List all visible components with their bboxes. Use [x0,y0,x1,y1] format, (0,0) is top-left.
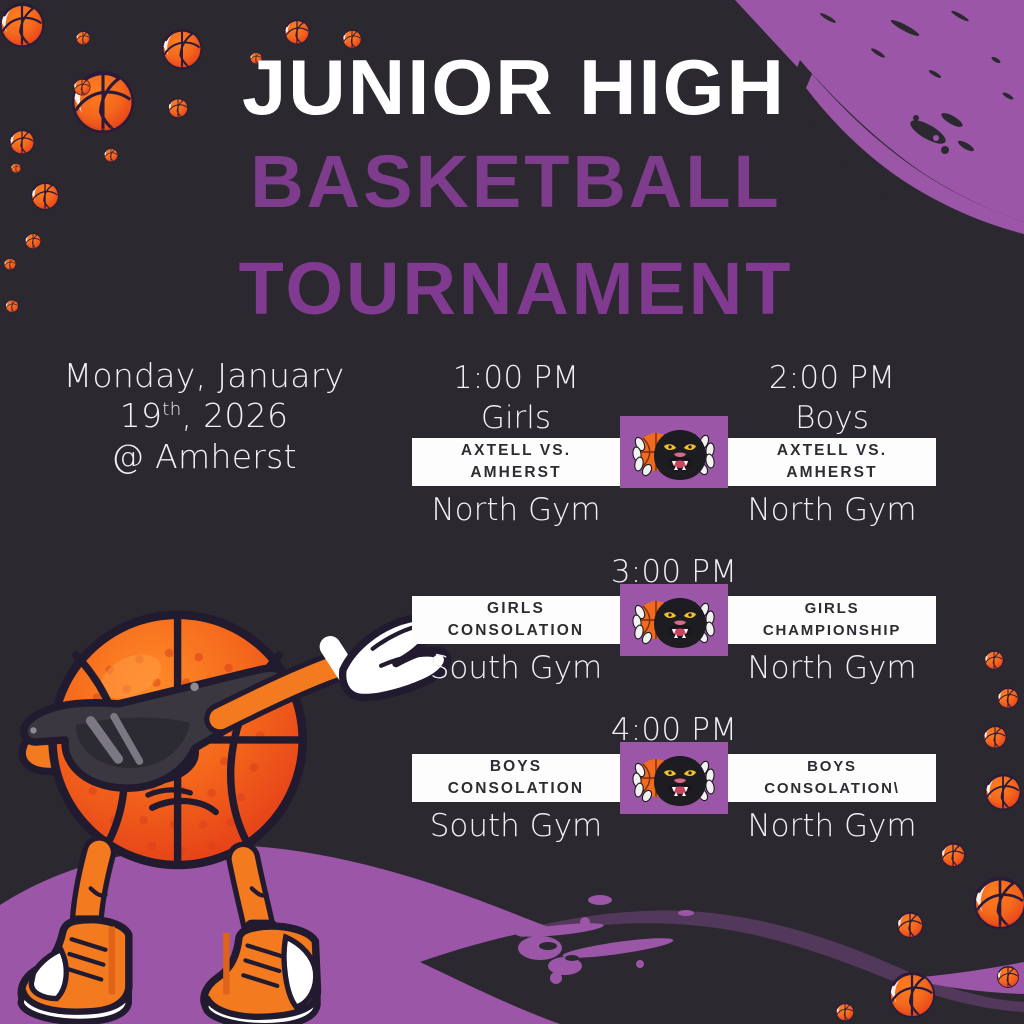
row1-left-match-line1: AXTELL VS. [461,440,571,462]
row2-right-match-line1: GIRLS [763,598,901,620]
panther-mascot-icon-3 [620,742,728,814]
row2-right-gym: North Gym [728,650,936,686]
dabbing-basketball-mascot-icon [21,611,448,1024]
glove-lower [82,718,195,781]
row3-left-match-line2: CONSOLATION [448,778,584,800]
event-date-line-2: 19th, 2026 [8,396,400,436]
row2-right-match-line2: CHAMPIONSHIP [763,620,901,642]
event-location: @ Amherst [8,437,400,477]
event-date-day: 19 [120,396,163,435]
panther-mascot-icon-2 [620,584,728,656]
title-line-basketball: BASKETBALL [4,145,1024,219]
row3-right-gym: North Gym [728,808,936,844]
row1-right-time: 2:00 PM [728,360,936,396]
event-date-year: , 2026 [182,396,289,435]
event-date-location: Monday, January 19th, 2026 @ Amherst [8,356,400,477]
row1-left-gym: North Gym [412,492,620,528]
row1-right-matchup: AXTELL VS. AMHERST [728,438,936,486]
row3-left-gym: South Gym [412,808,620,844]
row2-left-match-line1: GIRLS [448,598,584,620]
row1-right-match-line1: AXTELL VS. [777,440,887,462]
row1-left-match-line2: AMHERST [461,462,571,484]
brush-stroke-bottom-left [0,845,1024,1024]
poster-canvas: JUNIOR HIGH BASKETBALL TOURNAMENT Monday… [0,0,1024,1024]
row3-left-matchup: BOYS CONSOLATION [412,754,620,802]
row3-left-match-line1: BOYS [448,756,584,778]
sunglasses-icon [24,668,288,788]
row2-left-gym: South Gym [412,650,620,686]
panther-mascot-icon-1 [620,416,728,488]
row2-left-match-line2: CONSOLATION [448,620,584,642]
event-date-line-1: Monday, January [8,356,400,396]
row1-left-matchup: AXTELL VS. AMHERST [412,438,620,486]
row3-right-match-line1: BOYS [764,756,899,778]
title-line-tournament: TOURNAMENT [4,252,1024,326]
row3-right-matchup: BOYS CONSOLATION\ [728,754,936,802]
sneaker-left [21,920,129,1022]
row2-right-matchup: GIRLS CHAMPIONSHIP [728,596,936,644]
row3-right-match-line2: CONSOLATION\ [764,778,899,800]
sneaker-right [204,926,318,1024]
row2-left-matchup: GIRLS CONSOLATION [412,596,620,644]
title-line-junior-high: JUNIOR HIGH [0,48,1024,126]
row1-left-time: 1:00 PM [412,360,620,396]
row1-right-gym: North Gym [728,492,936,528]
row1-right-match-line2: AMHERST [777,462,887,484]
row1-right-division: Boys [728,400,936,436]
event-date-ordinal: th [162,399,181,420]
poster-title-block: JUNIOR HIGH BASKETBALL TOURNAMENT [0,0,1024,345]
row1-left-division: Girls [412,400,620,436]
